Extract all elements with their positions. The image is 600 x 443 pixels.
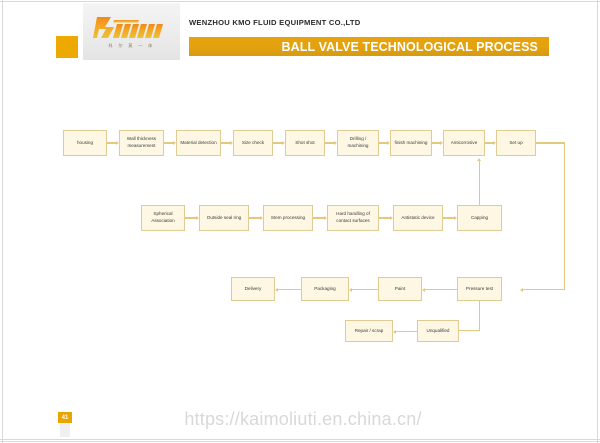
connector-pressure-to-unqualified	[459, 330, 480, 331]
connector-pressure-to-paint	[425, 289, 457, 290]
flow-node-hard-handling[interactable]: Hard handling of contact surfaces	[327, 205, 379, 231]
connector-antistatic-to-capping	[443, 217, 454, 218]
flow-node-antistatic-device[interactable]: Antistatic device	[393, 205, 443, 231]
connector-material-to-size	[221, 142, 230, 143]
flow-node-pressure-test[interactable]: Pressure test	[457, 277, 502, 301]
connector-size-to-shot	[273, 142, 282, 143]
connector-wall-to-material	[164, 142, 173, 143]
connector-seal-to-stem	[249, 217, 260, 218]
connector-packaging-to-delivery	[278, 289, 301, 290]
connector-anticorrosive-to-setup	[485, 142, 493, 143]
flow-node-stem-processing[interactable]: Stem processing	[263, 205, 313, 231]
kmo-logo-icon	[83, 13, 180, 43]
flow-node-anticorrosive[interactable]: Anticorrosive	[443, 130, 485, 156]
slide-page: 科 尔 莫 一 体 WENZHOU KMO FLUID EQUIPMENT CO…	[0, 0, 600, 443]
arrow-capping-to-setup	[477, 158, 481, 161]
connector-setup-down	[564, 142, 565, 290]
flow-node-set-up[interactable]: Set up	[496, 130, 536, 156]
flow-node-size-check[interactable]: Size check	[233, 130, 273, 156]
connector-paint-to-packaging	[352, 289, 378, 290]
flow-node-repair-scrap[interactable]: Repair / scrap	[345, 320, 393, 342]
flow-node-capping[interactable]: Capping	[457, 205, 502, 231]
accent-square-decoration	[56, 36, 78, 58]
connector-hard-to-antistatic	[379, 217, 390, 218]
slide-header: 科 尔 莫 一 体 WENZHOU KMO FLUID EQUIPMENT CO…	[0, 0, 600, 72]
flow-node-material-detection[interactable]: Material detection	[176, 130, 221, 156]
connector-pressure-down	[479, 301, 480, 331]
connector-setup-right	[536, 142, 565, 143]
page-title: BALL VALVE TECHNOLOGICAL PROCESS	[282, 40, 538, 54]
footer-divider	[0, 439, 600, 440]
connector-shot-to-drilling	[325, 142, 334, 143]
flow-node-paint[interactable]: Paint	[378, 277, 422, 301]
flow-node-wall-thickness[interactable]: Wall thickness measurement	[119, 130, 164, 156]
flow-node-housing[interactable]: housing	[63, 130, 107, 156]
company-name: WENZHOU KMO FLUID EQUIPMENT CO.,LTD	[189, 18, 360, 27]
flow-node-finish-machining[interactable]: finish machining	[390, 130, 432, 156]
flow-node-spherical-association[interactable]: Spherical Association	[141, 205, 185, 231]
connector-spherical-to-seal	[185, 217, 196, 218]
flow-node-shot-shot[interactable]: Shot shot	[285, 130, 325, 156]
connector-capping-to-setup	[479, 161, 480, 205]
connector-stem-to-hard	[313, 217, 324, 218]
connector-setup-to-pressure	[523, 289, 564, 290]
connector-drilling-to-finish	[379, 142, 387, 143]
watermark-url: https://kaimoliuti.en.china.cn/	[138, 409, 468, 430]
connector-unqualified-to-repair	[396, 331, 417, 332]
connector-housing-to-wall	[107, 142, 116, 143]
arrow-setup-to-pressure	[520, 288, 523, 292]
company-logo: 科 尔 莫 一 体	[83, 3, 180, 60]
logo-subtext: 科 尔 莫 一 体	[83, 43, 180, 49]
flow-node-drilling-machining[interactable]: Drilling / machining	[337, 130, 379, 156]
flow-node-outside-seal-ring[interactable]: Outside seal ring	[199, 205, 249, 231]
flow-node-packaging[interactable]: Packaging	[301, 277, 349, 301]
process-flow-diagram: housing Wall thickness measurement Mater…	[0, 72, 600, 402]
page-badge-stem	[60, 423, 70, 437]
flow-node-delivery[interactable]: Delivery	[231, 277, 275, 301]
page-number-badge: 41	[58, 412, 72, 423]
flow-node-unqualified[interactable]: Unqualified	[417, 320, 459, 342]
title-bar: BALL VALVE TECHNOLOGICAL PROCESS	[189, 37, 549, 56]
connector-finish-to-anticorrosive	[432, 142, 440, 143]
